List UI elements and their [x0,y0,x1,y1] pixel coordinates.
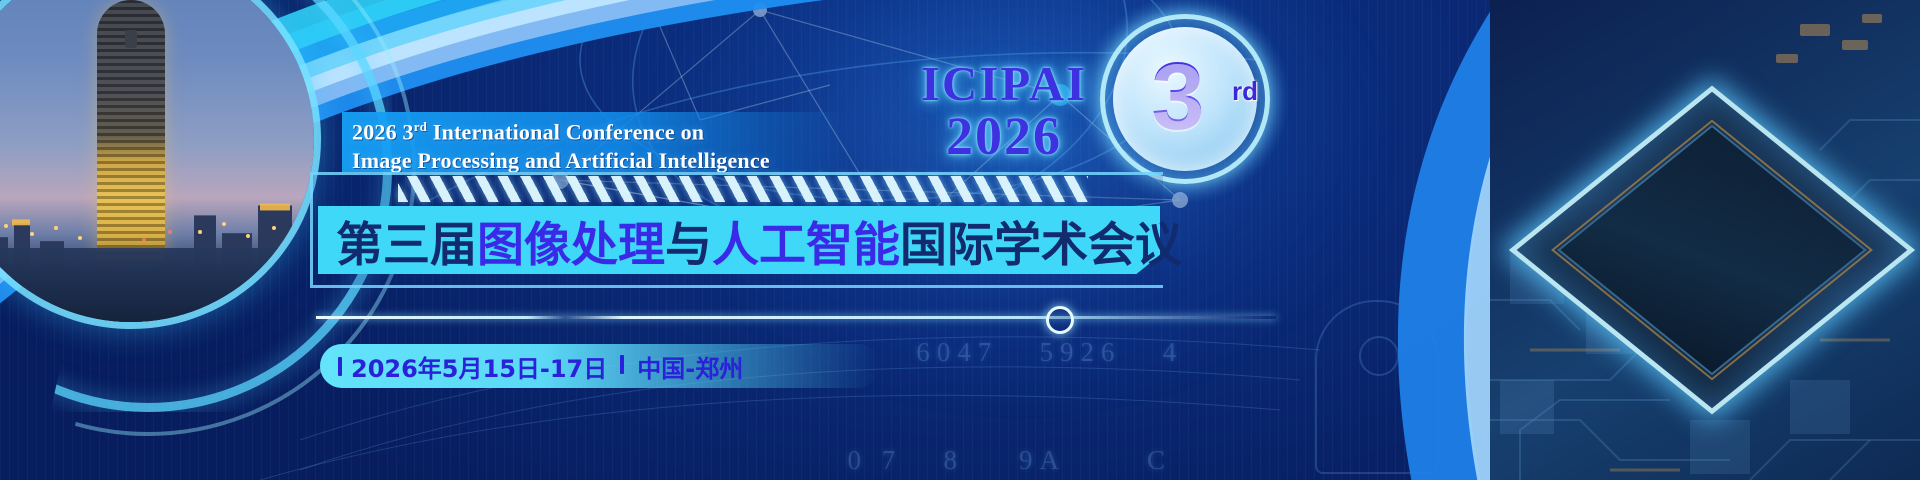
chinese-title-conference: 国际学术会议 [900,206,1182,275]
divider-line [316,316,1276,319]
edition-badge: 3 rd [1100,14,1270,184]
meta-bar-icon [338,357,342,376]
chinese-title-conjunction: 与 [665,206,712,275]
english-title-line-1: 2026 3rd International Conference on [352,112,912,146]
divider-node-circle [1046,306,1074,334]
english-title-prefix: 2026 3 [352,119,414,144]
english-title-line-2: Image Processing and Artificial Intellig… [352,146,912,175]
english-title-suffix: International Conference on [427,119,704,144]
conference-date: 2026年5月15日-17日 [351,349,607,384]
circuit-board-graphic [1490,0,1920,480]
meta-bar-icon-2 [620,355,624,374]
ordinal-suffix: rd [414,119,427,134]
chinese-title-image-processing: 图像处理 [477,206,665,275]
conference-banner: 6047 5926 4 0 7 8 9A C D BE2 F3D0 2 BF3 … [0,0,1920,480]
hatch-stripes-decoration [398,176,1088,202]
english-title: 2026 3rd International Conference on Ima… [352,112,912,175]
meta-separator [620,352,624,380]
chinese-title-ai: 人工智能 [712,206,900,275]
conference-meta: 2026年5月15日-17日 中国-郑州 [338,344,743,388]
chinese-title: 第三届图像处理与人工智能国际学术会议 [336,208,1182,272]
edition-suffix: rd [1232,76,1258,107]
conference-location: 中国-郑州 [637,349,743,384]
chinese-title-edition: 第三届 [336,206,477,275]
